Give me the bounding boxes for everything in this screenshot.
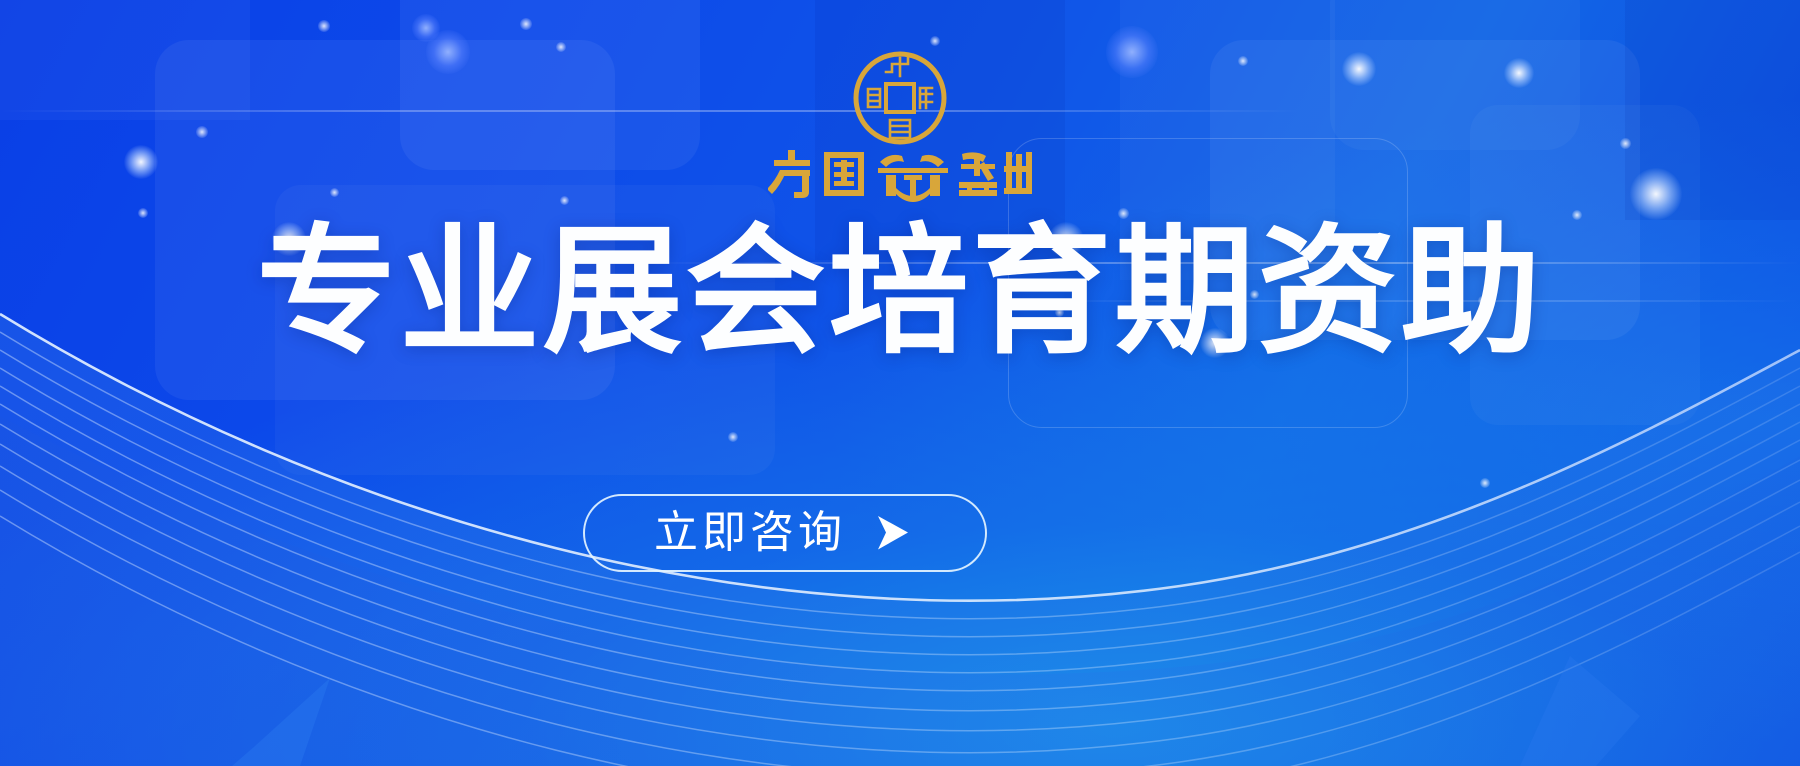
deco-glow-dot — [1504, 58, 1534, 88]
chevron-right-icon — [870, 512, 916, 554]
chinese-coin-icon — [848, 46, 952, 150]
brand-wordmark-icon — [768, 144, 1032, 202]
deco-glow-dot — [426, 30, 470, 74]
deco-glow-dot — [1238, 56, 1248, 66]
deco-glow-dot — [138, 208, 148, 218]
consult-now-button[interactable]: 立即咨询 — [583, 494, 987, 572]
deco-glow-dot — [560, 196, 569, 205]
deco-glow-dot — [1342, 52, 1376, 86]
brand-logo — [750, 46, 1050, 202]
page-title: 专业展会培育期资助 — [0, 222, 1800, 362]
deco-glow-dot — [728, 432, 738, 442]
deco-light-streak — [0, 110, 1300, 112]
deco-glow-dot — [124, 145, 158, 179]
deco-glow-dot — [318, 20, 330, 32]
deco-glow-dot — [1106, 26, 1158, 78]
deco-glow-dot — [556, 42, 566, 52]
deco-glow-dot — [1620, 138, 1631, 149]
deco-glow-dot — [520, 18, 532, 30]
deco-glow-dot — [1630, 168, 1682, 220]
deco-glow-dot — [1572, 210, 1582, 220]
promo-banner: 专业展会培育期资助 立即咨询 — [0, 0, 1800, 766]
consult-now-label: 立即咨询 — [654, 511, 846, 555]
deco-glow-dot — [930, 36, 940, 46]
deco-rounded-rect — [0, 0, 250, 120]
deco-glow-dot — [1480, 478, 1490, 488]
deco-glow-dot — [330, 188, 339, 197]
deco-rounded-rect — [400, 0, 700, 170]
deco-glow-dot — [196, 126, 208, 138]
